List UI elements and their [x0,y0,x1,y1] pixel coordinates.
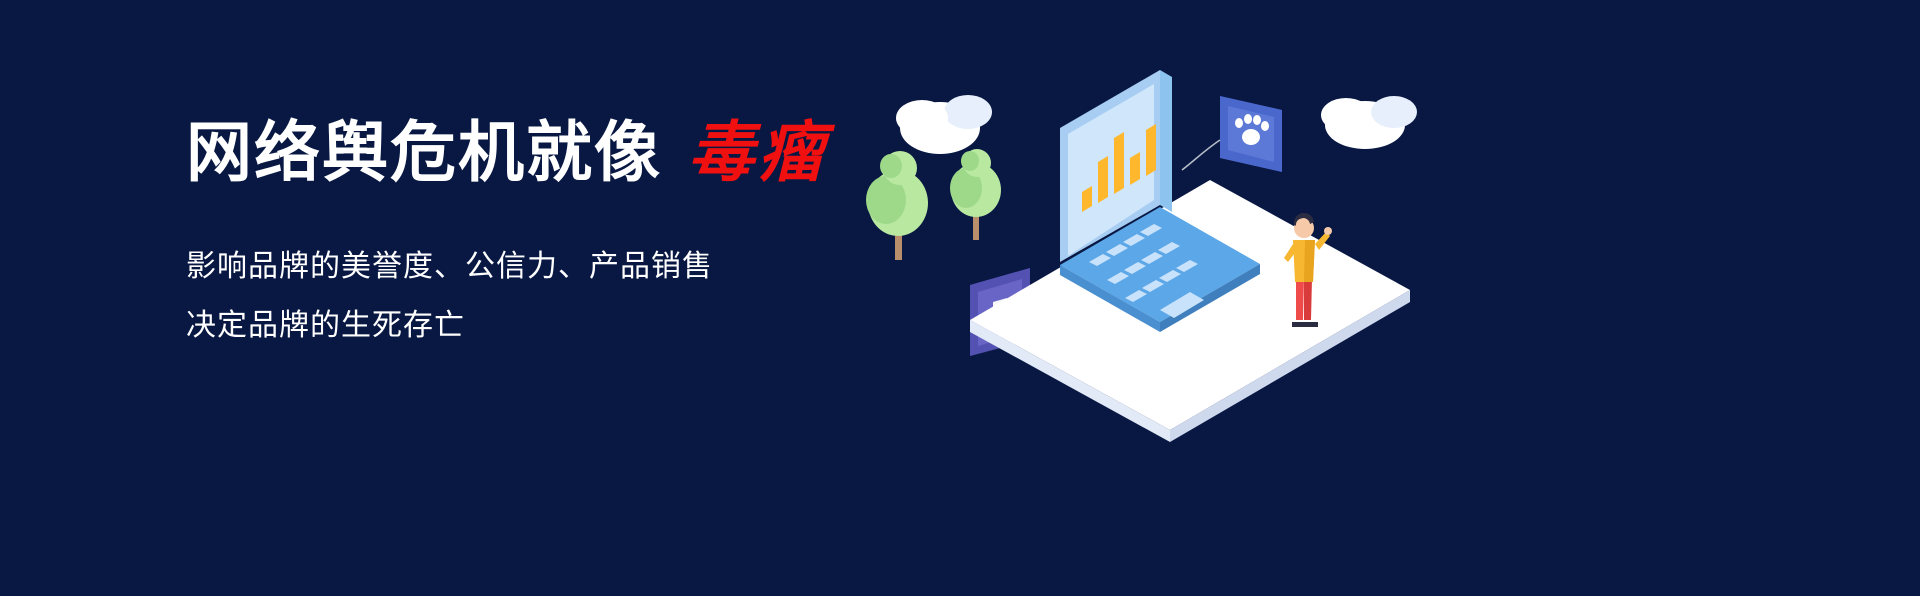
subheading-line-2: 决定品牌的生死存亡 [186,297,946,356]
tree-left-icon [866,151,928,260]
cloud-right-icon [1321,96,1417,149]
headline-white-text: 网络舆危机就像 [186,114,662,191]
hero-illustration [860,0,1480,596]
paw-icon-card[interactable] [1220,96,1282,172]
subheading-line-1: 影响品牌的美誉度、公信力、产品销售 [186,238,946,297]
headline-red-text: 毒瘤 [688,114,828,191]
cloud-left-icon [896,95,992,154]
promo-banner: 网络舆危机就像毒瘤 影响品牌的美誉度、公信力、产品销售 决定品牌的生死存亡 [0,0,1920,596]
subheading-block: 影响品牌的美誉度、公信力、产品销售 决定品牌的生死存亡 [186,238,946,355]
wire-right [1182,140,1220,170]
tree-right-icon [950,149,1001,240]
copy-block: 网络舆危机就像毒瘤 影响品牌的美誉度、公信力、产品销售 决定品牌的生死存亡 [186,120,946,355]
headline: 网络舆危机就像毒瘤 [186,120,946,186]
